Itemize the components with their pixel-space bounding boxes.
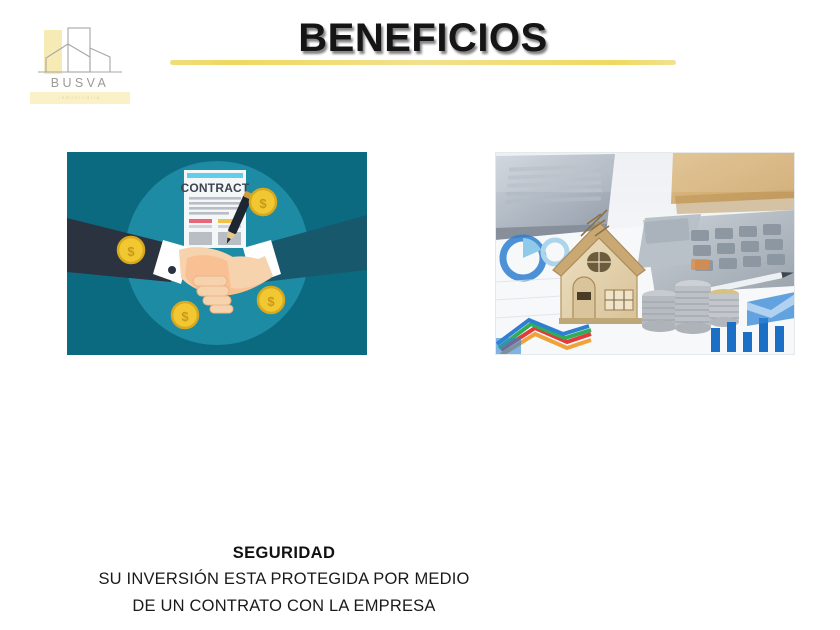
svg-text:$: $ <box>267 294 275 309</box>
benefit-card-ahorro: AHORRO PRECIOS MUY POR DE BAJO DEL VALOR… <box>495 152 795 355</box>
svg-text:$: $ <box>181 309 189 324</box>
benefit-heading: SEGURIDAD <box>92 541 476 565</box>
svg-text:$: $ <box>259 196 267 211</box>
calculator <box>637 210 795 294</box>
title-underline-rule <box>170 60 676 65</box>
benefit-image-ahorro <box>495 152 795 355</box>
benefit-image-seguridad: CONTRACT <box>67 152 367 355</box>
dollar-coin-icon: $ <box>258 287 284 313</box>
benefit-body: SU INVERSIÓN ESTA PROTEGIDA POR MEDIO DE… <box>92 566 476 620</box>
logo-tagline: inmobiliaria <box>30 92 130 104</box>
dollar-coin-icon: $ <box>172 302 198 328</box>
dollar-coin-icon: $ <box>118 237 144 263</box>
benefit-caption-seguridad: SEGURIDAD SU INVERSIÓN ESTA PROTEGIDA PO… <box>92 541 476 620</box>
handshake-contract-illustration: CONTRACT <box>67 152 367 355</box>
svg-text:CONTRACT: CONTRACT <box>181 181 250 195</box>
logo-wordmark: BUSVA <box>28 76 132 90</box>
benefit-card-seguridad: CONTRACT <box>67 152 367 355</box>
page-title: BENEFICIOS <box>170 16 676 61</box>
house-coins-calculator-photo <box>495 152 795 355</box>
dollar-coin-icon: $ <box>250 189 276 215</box>
brand-logo: BUSVA inmobiliaria <box>28 24 132 106</box>
building-outline-icon <box>28 24 132 80</box>
svg-text:$: $ <box>127 244 135 259</box>
